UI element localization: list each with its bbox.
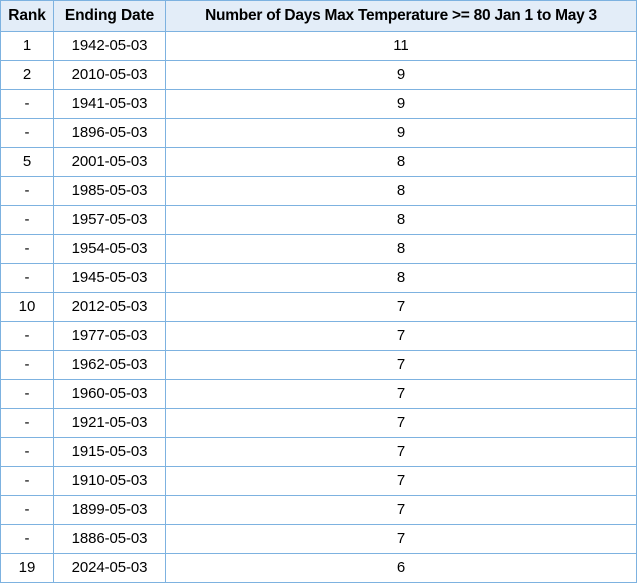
table-row: 52001-05-038 bbox=[1, 148, 637, 177]
cell-days-count: 7 bbox=[166, 409, 637, 438]
table-row: -1977-05-037 bbox=[1, 322, 637, 351]
table-row: -1957-05-038 bbox=[1, 206, 637, 235]
cell-ending-date: 1915-05-03 bbox=[54, 438, 166, 467]
cell-days-count: 7 bbox=[166, 322, 637, 351]
cell-rank: 19 bbox=[1, 554, 54, 583]
table-row: -1896-05-039 bbox=[1, 119, 637, 148]
table-row: 102012-05-037 bbox=[1, 293, 637, 322]
cell-ending-date: 2024-05-03 bbox=[54, 554, 166, 583]
table-header-row: Rank Ending Date Number of Days Max Temp… bbox=[1, 1, 637, 32]
cell-ending-date: 1977-05-03 bbox=[54, 322, 166, 351]
cell-rank: - bbox=[1, 119, 54, 148]
cell-days-count: 9 bbox=[166, 119, 637, 148]
cell-ending-date: 1921-05-03 bbox=[54, 409, 166, 438]
cell-ending-date: 1942-05-03 bbox=[54, 32, 166, 61]
table-row: -1886-05-037 bbox=[1, 525, 637, 554]
cell-ending-date: 2012-05-03 bbox=[54, 293, 166, 322]
cell-days-count: 7 bbox=[166, 467, 637, 496]
cell-rank: - bbox=[1, 525, 54, 554]
cell-ending-date: 1957-05-03 bbox=[54, 206, 166, 235]
table-row: 192024-05-036 bbox=[1, 554, 637, 583]
cell-days-count: 7 bbox=[166, 438, 637, 467]
cell-days-count: 8 bbox=[166, 148, 637, 177]
cell-rank: - bbox=[1, 177, 54, 206]
cell-rank: - bbox=[1, 351, 54, 380]
table-header: Rank Ending Date Number of Days Max Temp… bbox=[1, 1, 637, 32]
cell-days-count: 8 bbox=[166, 264, 637, 293]
cell-rank: - bbox=[1, 206, 54, 235]
cell-rank: - bbox=[1, 322, 54, 351]
table-row: -1921-05-037 bbox=[1, 409, 637, 438]
climate-records-table: Rank Ending Date Number of Days Max Temp… bbox=[0, 0, 637, 583]
cell-days-count: 8 bbox=[166, 235, 637, 264]
table-row: 22010-05-039 bbox=[1, 61, 637, 90]
cell-rank: - bbox=[1, 264, 54, 293]
table-row: -1915-05-037 bbox=[1, 438, 637, 467]
cell-rank: 5 bbox=[1, 148, 54, 177]
cell-days-count: 8 bbox=[166, 177, 637, 206]
cell-rank: - bbox=[1, 496, 54, 525]
column-header-days-count: Number of Days Max Temperature >= 80 Jan… bbox=[166, 1, 637, 32]
table-row: -1899-05-037 bbox=[1, 496, 637, 525]
cell-ending-date: 1899-05-03 bbox=[54, 496, 166, 525]
cell-ending-date: 1960-05-03 bbox=[54, 380, 166, 409]
cell-days-count: 7 bbox=[166, 496, 637, 525]
cell-days-count: 6 bbox=[166, 554, 637, 583]
cell-rank: - bbox=[1, 235, 54, 264]
table-row: -1960-05-037 bbox=[1, 380, 637, 409]
cell-ending-date: 1910-05-03 bbox=[54, 467, 166, 496]
cell-ending-date: 1896-05-03 bbox=[54, 119, 166, 148]
table-row: -1941-05-039 bbox=[1, 90, 637, 119]
cell-days-count: 7 bbox=[166, 380, 637, 409]
table-body: 11942-05-031122010-05-039-1941-05-039-18… bbox=[1, 32, 637, 583]
cell-rank: 1 bbox=[1, 32, 54, 61]
cell-rank: - bbox=[1, 467, 54, 496]
cell-rank: - bbox=[1, 380, 54, 409]
cell-days-count: 9 bbox=[166, 90, 637, 119]
cell-days-count: 7 bbox=[166, 351, 637, 380]
column-header-ending-date: Ending Date bbox=[54, 1, 166, 32]
cell-rank: - bbox=[1, 438, 54, 467]
column-header-rank: Rank bbox=[1, 1, 54, 32]
cell-rank: 10 bbox=[1, 293, 54, 322]
cell-ending-date: 1886-05-03 bbox=[54, 525, 166, 554]
cell-ending-date: 1954-05-03 bbox=[54, 235, 166, 264]
cell-ending-date: 1945-05-03 bbox=[54, 264, 166, 293]
cell-ending-date: 1962-05-03 bbox=[54, 351, 166, 380]
climate-records-table-container: Rank Ending Date Number of Days Max Temp… bbox=[0, 0, 640, 583]
cell-days-count: 8 bbox=[166, 206, 637, 235]
table-row: -1962-05-037 bbox=[1, 351, 637, 380]
cell-ending-date: 1941-05-03 bbox=[54, 90, 166, 119]
cell-ending-date: 1985-05-03 bbox=[54, 177, 166, 206]
cell-days-count: 11 bbox=[166, 32, 637, 61]
cell-rank: - bbox=[1, 90, 54, 119]
cell-rank: - bbox=[1, 409, 54, 438]
cell-ending-date: 2010-05-03 bbox=[54, 61, 166, 90]
table-row: -1910-05-037 bbox=[1, 467, 637, 496]
table-row: -1945-05-038 bbox=[1, 264, 637, 293]
cell-days-count: 7 bbox=[166, 293, 637, 322]
cell-days-count: 7 bbox=[166, 525, 637, 554]
cell-days-count: 9 bbox=[166, 61, 637, 90]
cell-rank: 2 bbox=[1, 61, 54, 90]
table-row: -1954-05-038 bbox=[1, 235, 637, 264]
cell-ending-date: 2001-05-03 bbox=[54, 148, 166, 177]
table-row: 11942-05-0311 bbox=[1, 32, 637, 61]
table-row: -1985-05-038 bbox=[1, 177, 637, 206]
